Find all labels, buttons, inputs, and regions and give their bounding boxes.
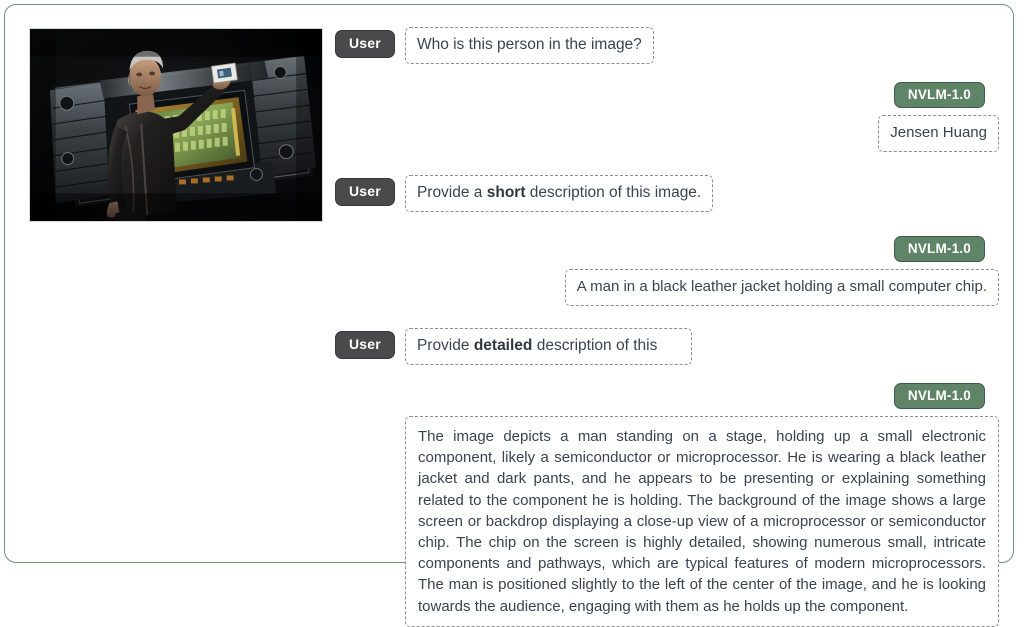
stage-photo <box>29 28 323 222</box>
role-chip-user: User <box>335 30 395 58</box>
stage-photo-graphic <box>30 29 322 221</box>
message-bubble-assistant-2[interactable]: A man in a black leather jacket holding … <box>565 269 999 306</box>
message-text: Who is this person in the image? <box>417 36 642 53</box>
role-chip-model: NVLM-1.0 <box>894 82 985 108</box>
role-chip-user: User <box>335 178 395 206</box>
message-text-before: Provide <box>417 337 474 354</box>
role-chip-user: User <box>335 331 395 359</box>
turn-user-1: User Who is this person in the image? <box>335 27 999 64</box>
message-bubble-assistant-1[interactable]: Jensen Huang <box>878 115 999 152</box>
message-text: The image depicts a man standing on a st… <box>418 426 986 617</box>
turn-assistant-3: NVLM-1.0 The image depicts a man standin… <box>335 383 999 627</box>
turn-assistant-2: NVLM-1.0 A man in a black leather jacket… <box>335 236 999 306</box>
message-bubble-user-1[interactable]: Who is this person in the image? <box>405 27 654 64</box>
role-chip-model: NVLM-1.0 <box>894 236 985 262</box>
message-text: A man in a black leather jacket holding … <box>577 278 987 295</box>
conversation-thread: User Who is this person in the image? NV… <box>335 27 999 627</box>
turn-assistant-1: NVLM-1.0 Jensen Huang <box>335 82 999 152</box>
message-text-before: Provide a <box>417 184 487 201</box>
spacer <box>335 152 999 175</box>
message-bubble-assistant-3[interactable]: The image depicts a man standing on a st… <box>405 416 999 627</box>
spacer <box>335 306 999 328</box>
message-text-after: description of this image. <box>525 184 701 201</box>
spacer <box>335 365 999 383</box>
message-text-after: description of this <box>532 337 657 354</box>
turn-user-2: User Provide a short description of this… <box>335 175 999 212</box>
spacer <box>335 64 999 82</box>
turn-user-3: User Provide detailed description of thi… <box>335 328 999 365</box>
message-bubble-user-3[interactable]: Provide detailed description of this <box>405 328 692 365</box>
message-bubble-user-2[interactable]: Provide a short description of this imag… <box>405 175 713 212</box>
role-chip-model: NVLM-1.0 <box>894 383 985 409</box>
message-text-emphasis: detailed <box>474 337 533 354</box>
page-frame: User Who is this person in the image? NV… <box>4 4 1014 563</box>
message-text: Jensen Huang <box>890 124 987 141</box>
spacer <box>335 212 999 236</box>
message-text-emphasis: short <box>487 184 526 201</box>
